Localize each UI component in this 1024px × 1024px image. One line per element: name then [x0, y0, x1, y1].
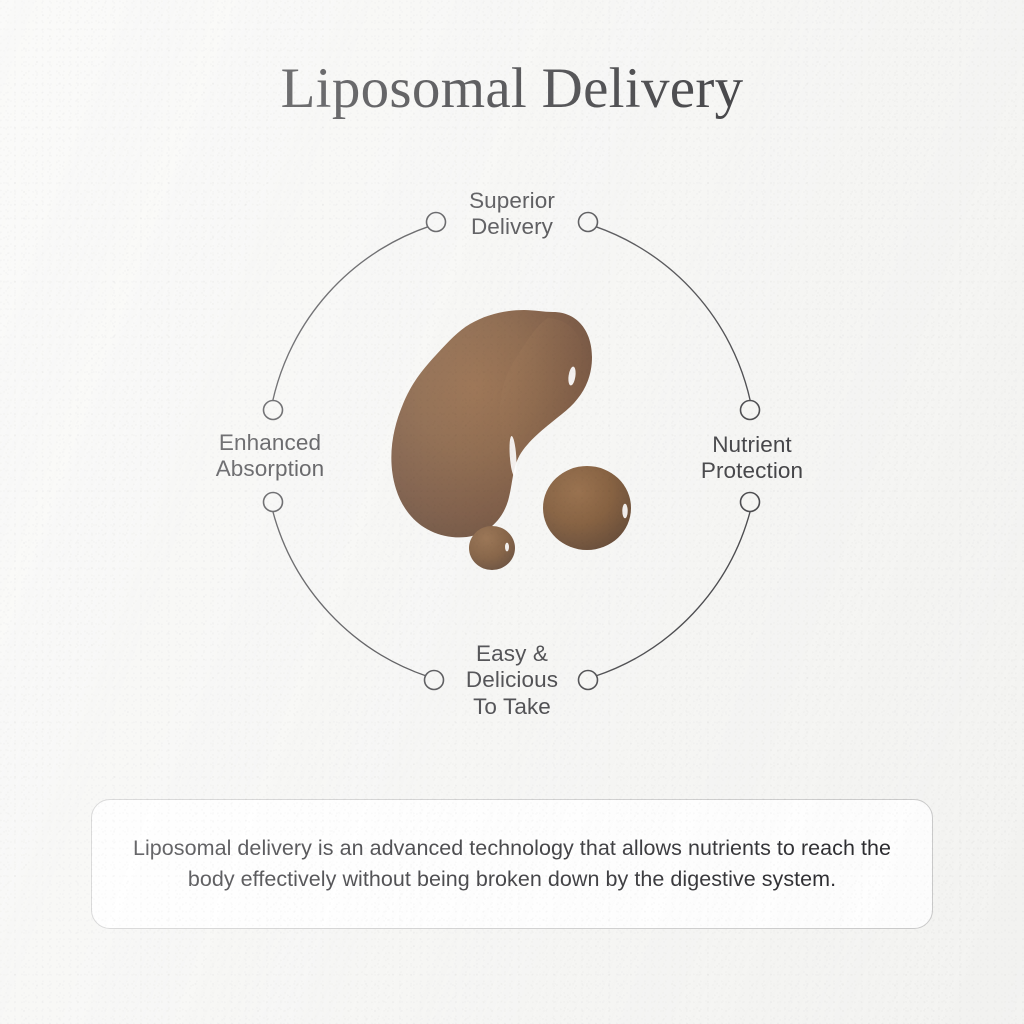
marker-enhanced-bottom	[264, 493, 283, 512]
page-title: Liposomal Delivery	[0, 56, 1024, 121]
marker-enhanced-top	[264, 401, 283, 420]
arc-bottom-left	[273, 511, 428, 677]
marker-nutrient-top	[741, 401, 760, 420]
marker-nutrient-bottom	[741, 493, 760, 512]
node-label-nutrient-protection: Nutrient Protection	[650, 432, 854, 485]
node-label-superior-delivery: Superior Delivery	[412, 188, 612, 241]
medium-droplet	[543, 466, 631, 550]
node-label-easy-delicious: Easy & Delicious To Take	[412, 641, 612, 720]
medium-droplet-highlight	[622, 504, 627, 518]
caption-box: Liposomal delivery is an advanced techno…	[91, 799, 933, 929]
arc-top-right	[594, 226, 750, 401]
node-label-enhanced-absorption: Enhanced Absorption	[168, 430, 372, 483]
small-droplet-highlight	[505, 543, 509, 552]
arc-top-left	[273, 226, 430, 401]
chocolate-syrup-icon	[391, 310, 631, 570]
caption-text: Liposomal delivery is an advanced techno…	[122, 833, 902, 894]
